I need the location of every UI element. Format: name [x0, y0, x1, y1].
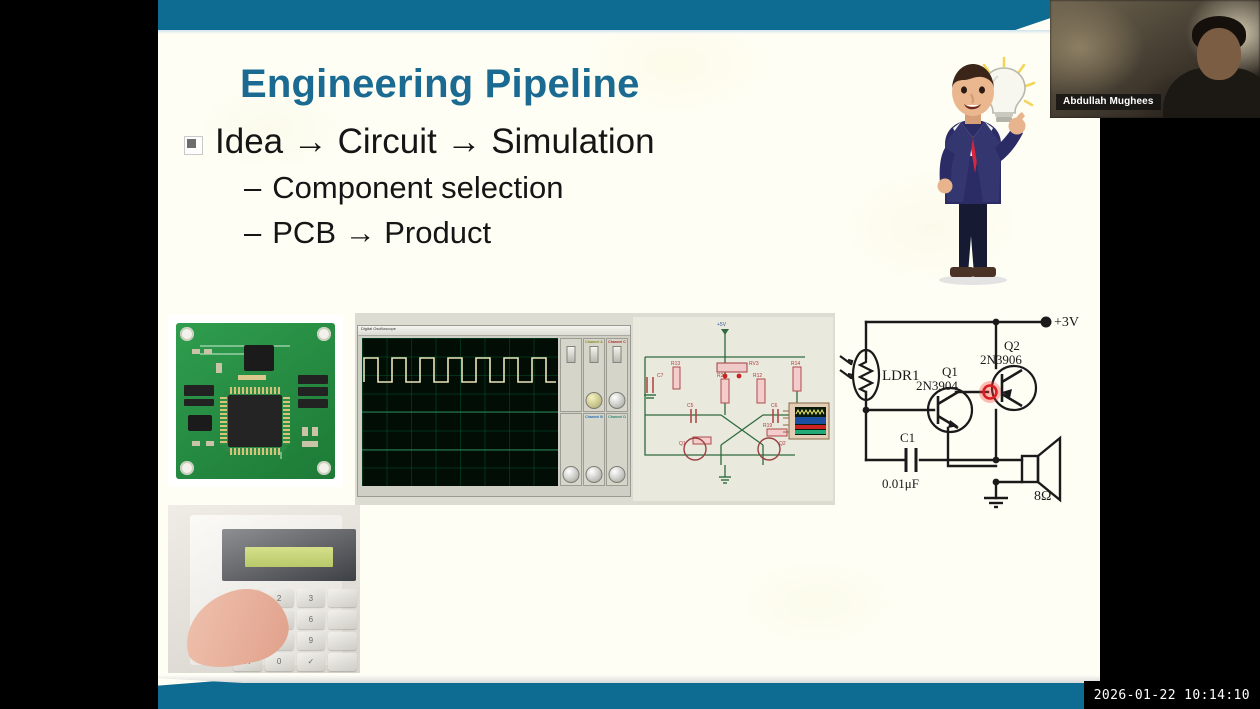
keypad-key-blank[interactable] [328, 589, 357, 607]
oscilloscope-control-panels: Channel A Channel C Channel B [560, 338, 628, 486]
bullet-level2-pcb-product: – PCB → Product [244, 214, 884, 252]
label-speaker: 8Ω [1034, 489, 1051, 504]
oscilloscope-window-title: Digital Oscilloscope [358, 326, 630, 336]
bullet-level2-text: Component selection [272, 169, 563, 207]
label-q2-part: 2N3906 [980, 352, 1022, 367]
bullet-level1-idea: Idea → Circuit → Simulation [184, 122, 884, 163]
pcb-board-photo [168, 315, 343, 487]
label-supply: +3V [1054, 315, 1079, 330]
svg-text:Q2: Q2 [779, 441, 786, 447]
keypad-lcd-screen [245, 547, 333, 567]
keypad-key-blank[interactable] [328, 632, 357, 650]
keypad-key[interactable]: 9 [297, 632, 326, 650]
scope-trigger-panel[interactable] [560, 338, 582, 412]
presentation-slide: Engineering Pipeline Idea → Circuit → Si… [158, 0, 1100, 709]
svg-text:C5: C5 [687, 403, 694, 409]
slide-top-band-shadow [158, 30, 1100, 34]
slide-bottom-accent-band [158, 679, 1100, 709]
svg-text:C6: C6 [771, 403, 778, 409]
bullet-level2-text: PCB → Product [272, 214, 491, 252]
scope-horizontal-panel[interactable] [560, 413, 582, 487]
alarm-keypad-photo: 1 2 3 4 5 6 7 8 9 X 0 ✓ [168, 505, 360, 673]
scope-channel-a-panel[interactable]: Channel A [583, 338, 605, 412]
label-q1-part: 2N3904 [916, 378, 958, 393]
slide-bottom-band-edge [158, 675, 1100, 683]
scope-channel-c-panel[interactable]: Channel C [606, 338, 628, 412]
recording-timestamp: 2026-01-22 10:14:10 [1084, 681, 1260, 709]
svg-text:+5V: +5V [717, 322, 727, 328]
slide-bullet-list: Idea → Circuit → Simulation – Component … [184, 122, 884, 252]
label-c1-ref: C1 [900, 430, 915, 445]
svg-text:Q1: Q1 [679, 441, 686, 447]
svg-text:R14: R14 [791, 361, 800, 367]
slide-title: Engineering Pipeline [240, 62, 640, 107]
circuit-drawing: +3V LDR1 Q1 2N3904 Q2 2N3906 C1 0.01μF 8… [838, 300, 1100, 510]
scope-channel-b-panel[interactable]: Channel B [583, 413, 605, 487]
schematic-drawing: +5V C7R13 R2R12 R14C5 C6RV3 Q1Q2 R19 [633, 317, 833, 501]
slide-top-accent-band [158, 0, 1100, 30]
astable-multivibrator-schematic: +5V C7R13 R2R12 R14C5 C6RV3 Q1Q2 R19 [633, 317, 833, 501]
svg-text:R2: R2 [717, 373, 724, 379]
webcam-participant-figure [1159, 16, 1260, 118]
pcb-main-ic [228, 395, 282, 447]
participant-name-badge: Abdullah Mughees [1056, 94, 1161, 110]
dash-marker: – [244, 214, 261, 252]
webcam-overlay[interactable]: Abdullah Mughees [1050, 0, 1260, 118]
proteus-simulation-screenshot: Digital Oscilloscope Channel A [355, 313, 835, 505]
label-ldr: LDR1 [882, 368, 920, 384]
bullet-level1-text: Idea → Circuit → Simulation [215, 122, 655, 163]
label-q1-ref: Q1 [942, 364, 958, 379]
svg-text:R13: R13 [671, 361, 680, 367]
svg-text:R12: R12 [753, 373, 762, 379]
screen-recording-frame: Engineering Pipeline Idea → Circuit → Si… [0, 0, 1260, 709]
pcb-secondary-ic [244, 345, 274, 371]
label-q2-ref: Q2 [1004, 338, 1020, 353]
svg-text:RV3: RV3 [749, 361, 759, 367]
keypad-key[interactable]: 6 [297, 610, 326, 628]
oscilloscope-display [362, 338, 558, 486]
bullet-level2-component-selection: – Component selection [244, 169, 884, 207]
keypad-panel: 1 2 3 4 5 6 7 8 9 X 0 ✓ [190, 515, 342, 665]
keypad-key-blank[interactable] [328, 653, 357, 671]
svg-text:R19: R19 [763, 423, 772, 429]
scope-channel-d-panel[interactable]: Channel D [606, 413, 628, 487]
keypad-key-blank[interactable] [328, 610, 357, 628]
dash-marker: – [244, 169, 261, 207]
businessman-idea-illustration [903, 52, 1043, 287]
pcb-substrate [176, 323, 335, 479]
svg-text:C7: C7 [657, 373, 664, 379]
keypad-key-enter[interactable]: ✓ [297, 653, 326, 671]
label-c1-value: 0.01μF [882, 476, 919, 491]
businessman-icon [903, 52, 1043, 287]
digital-oscilloscope-window: Digital Oscilloscope Channel A [357, 325, 631, 497]
square-wave-trace [362, 338, 558, 486]
square-bullet-icon [184, 136, 203, 155]
keypad-key[interactable]: 3 [297, 589, 326, 607]
ldr-alarm-schematic: +3V LDR1 Q1 2N3904 Q2 2N3906 C1 0.01μF 8… [838, 300, 1100, 510]
